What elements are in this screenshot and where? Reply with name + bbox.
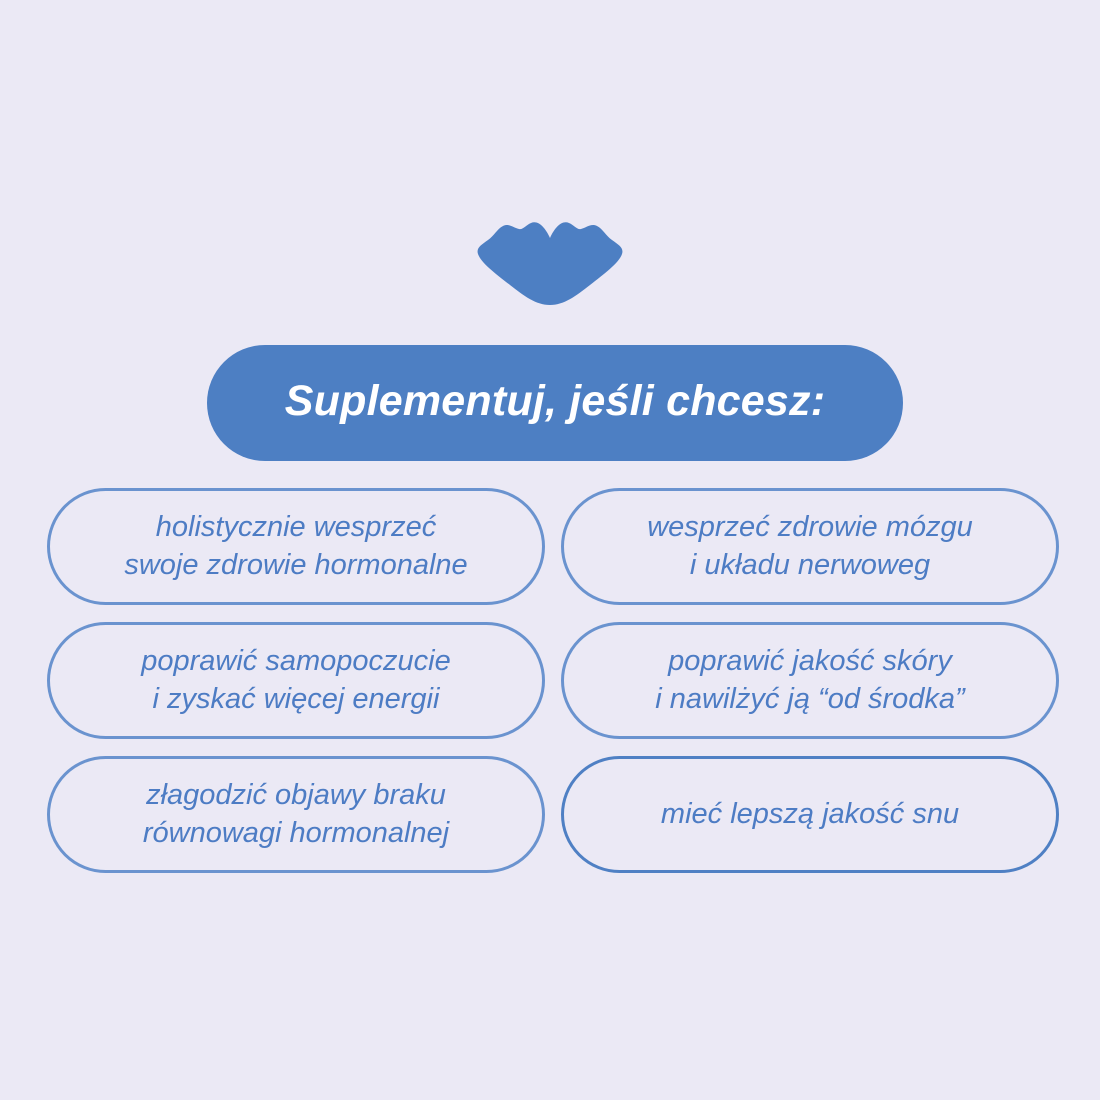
benefit-card-label: poprawić samopoczucie i zyskać więcej en… [115, 643, 476, 717]
benefit-card-label: mieć lepszą jakość snu [635, 796, 985, 833]
benefit-card-label: holistycznie wesprzeć swoje zdrowie horm… [98, 509, 493, 583]
benefit-card-label: złagodzić objawy braku równowagi hormona… [117, 777, 475, 851]
title-banner: Suplementuj, jeśli chcesz: [207, 345, 903, 461]
benefit-card[interactable]: poprawić samopoczucie i zyskać więcej en… [47, 622, 545, 739]
benefits-card-grid: holistycznie wesprzeć swoje zdrowie horm… [47, 488, 1059, 873]
benefit-card-label: wesprzeć zdrowie mózgu i układu nerwoweg [621, 509, 999, 583]
page-title: Suplementuj, jeśli chcesz: [285, 380, 825, 426]
lips-icon [476, 214, 624, 306]
benefit-card[interactable]: mieć lepszą jakość snu [561, 756, 1059, 873]
benefit-card[interactable]: wesprzeć zdrowie mózgu i układu nerwoweg [561, 488, 1059, 605]
benefit-card-label: poprawić jakość skóry i nawilżyć ją “od … [629, 643, 990, 717]
benefit-card[interactable]: holistycznie wesprzeć swoje zdrowie horm… [47, 488, 545, 605]
poster-canvas: Suplementuj, jeśli chcesz: holistycznie … [0, 0, 1100, 1100]
lips-icon-container [0, 214, 1100, 310]
benefit-card[interactable]: poprawić jakość skóry i nawilżyć ją “od … [561, 622, 1059, 739]
benefit-card[interactable]: złagodzić objawy braku równowagi hormona… [47, 756, 545, 873]
